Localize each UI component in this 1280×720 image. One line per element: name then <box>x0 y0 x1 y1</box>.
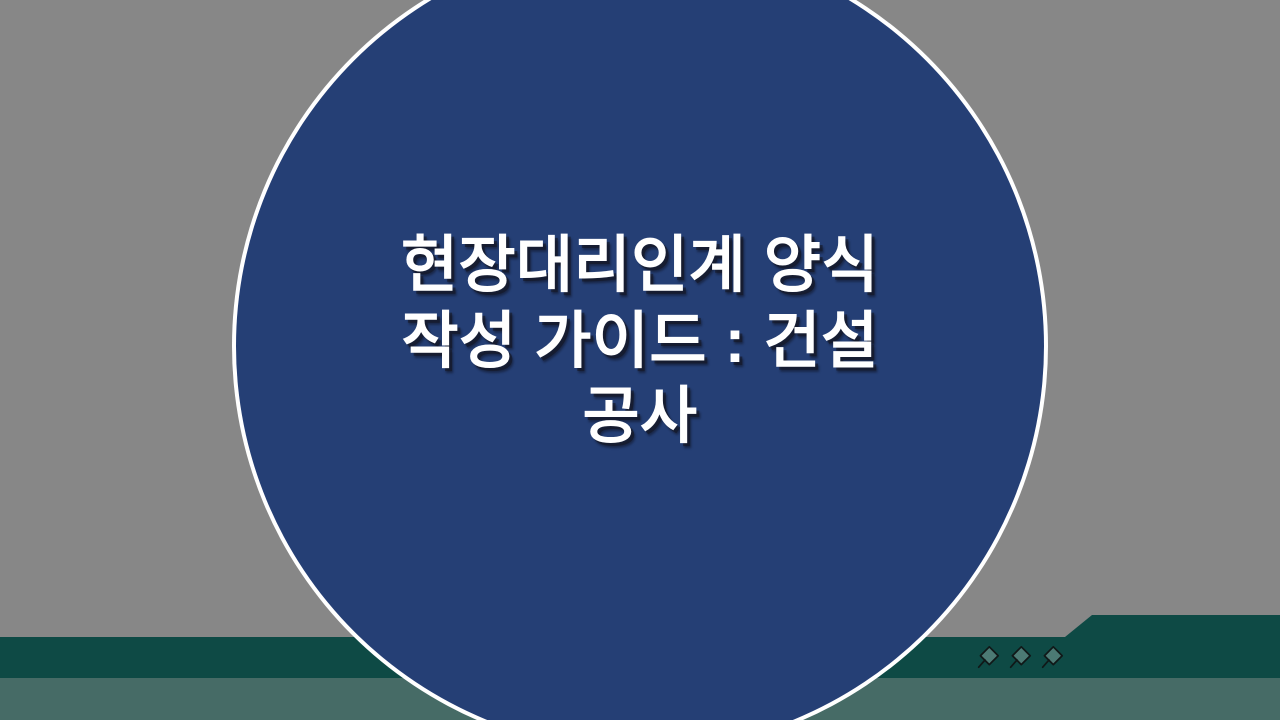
hero-circle-fill <box>236 0 1044 720</box>
slide-canvas: 현장대리인계 양식 작성 가이드 : 건설 공사 <box>0 0 1280 720</box>
hero-circle <box>232 0 1048 720</box>
